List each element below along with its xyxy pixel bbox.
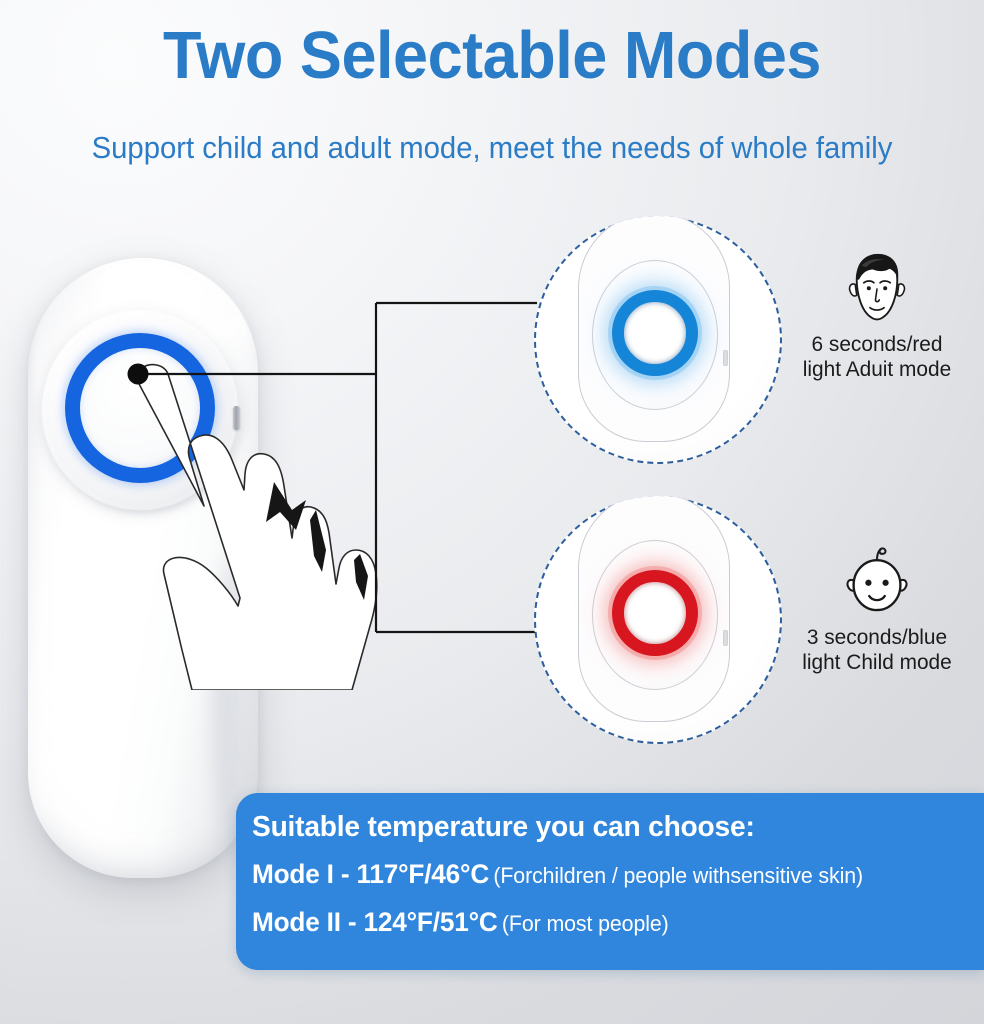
info-box-heading: Suitable temperature you can choose: — [252, 813, 962, 842]
callout-magnified-view — [534, 216, 782, 464]
adult-man-face-icon — [838, 250, 916, 328]
page-title: Two Selectable Modes — [30, 22, 955, 89]
mode-label-child: 3 seconds/blue light Child mode — [772, 543, 982, 676]
magnified-glowing-ring-blue — [612, 290, 698, 376]
callout-magnified-view — [534, 496, 782, 744]
callout-adult-mode — [534, 216, 782, 464]
baby-face-icon — [838, 543, 916, 621]
magnified-side-button — [723, 630, 728, 646]
device-side-button — [233, 406, 240, 430]
magnified-side-button — [723, 350, 728, 366]
info-box-row: Mode II - 124°F/51°C (For most people) — [252, 907, 962, 938]
mode-1-note: (Forchildren / people withsensitive skin… — [493, 863, 863, 888]
infographic-page: Two Selectable Modes Support child and a… — [0, 0, 984, 1024]
header: Two Selectable Modes Support child and a… — [0, 0, 984, 200]
mode-label-line2: light Aduit mode — [775, 357, 979, 382]
page-subtitle: Support child and adult mode, meet the n… — [20, 133, 965, 164]
mode-2-note: (For most people) — [502, 911, 669, 936]
magnified-glowing-ring-red — [612, 570, 698, 656]
mode-label-text-adult: 6 seconds/red light Aduit mode — [775, 332, 979, 383]
mode-1-value: Mode I - 117°F/46°C — [252, 859, 489, 889]
mode-label-line1: 3 seconds/blue — [775, 625, 979, 650]
mode-label-line2: light Child mode — [775, 650, 979, 675]
info-box-row: Mode I - 117°F/46°C (Forchildren / peopl… — [252, 859, 962, 890]
mode-label-line1: 6 seconds/red — [775, 332, 979, 357]
mode-label-adult: 6 seconds/red light Aduit mode — [772, 250, 982, 383]
mode-2-value: Mode II - 124°F/51°C — [252, 907, 498, 937]
temperature-info-box: Suitable temperature you can choose: Mod… — [236, 793, 984, 970]
callout-child-mode — [534, 496, 782, 744]
mode-label-text-child: 3 seconds/blue light Child mode — [775, 625, 979, 676]
device-illustration — [18, 258, 278, 888]
device-power-button-ring — [65, 333, 215, 483]
